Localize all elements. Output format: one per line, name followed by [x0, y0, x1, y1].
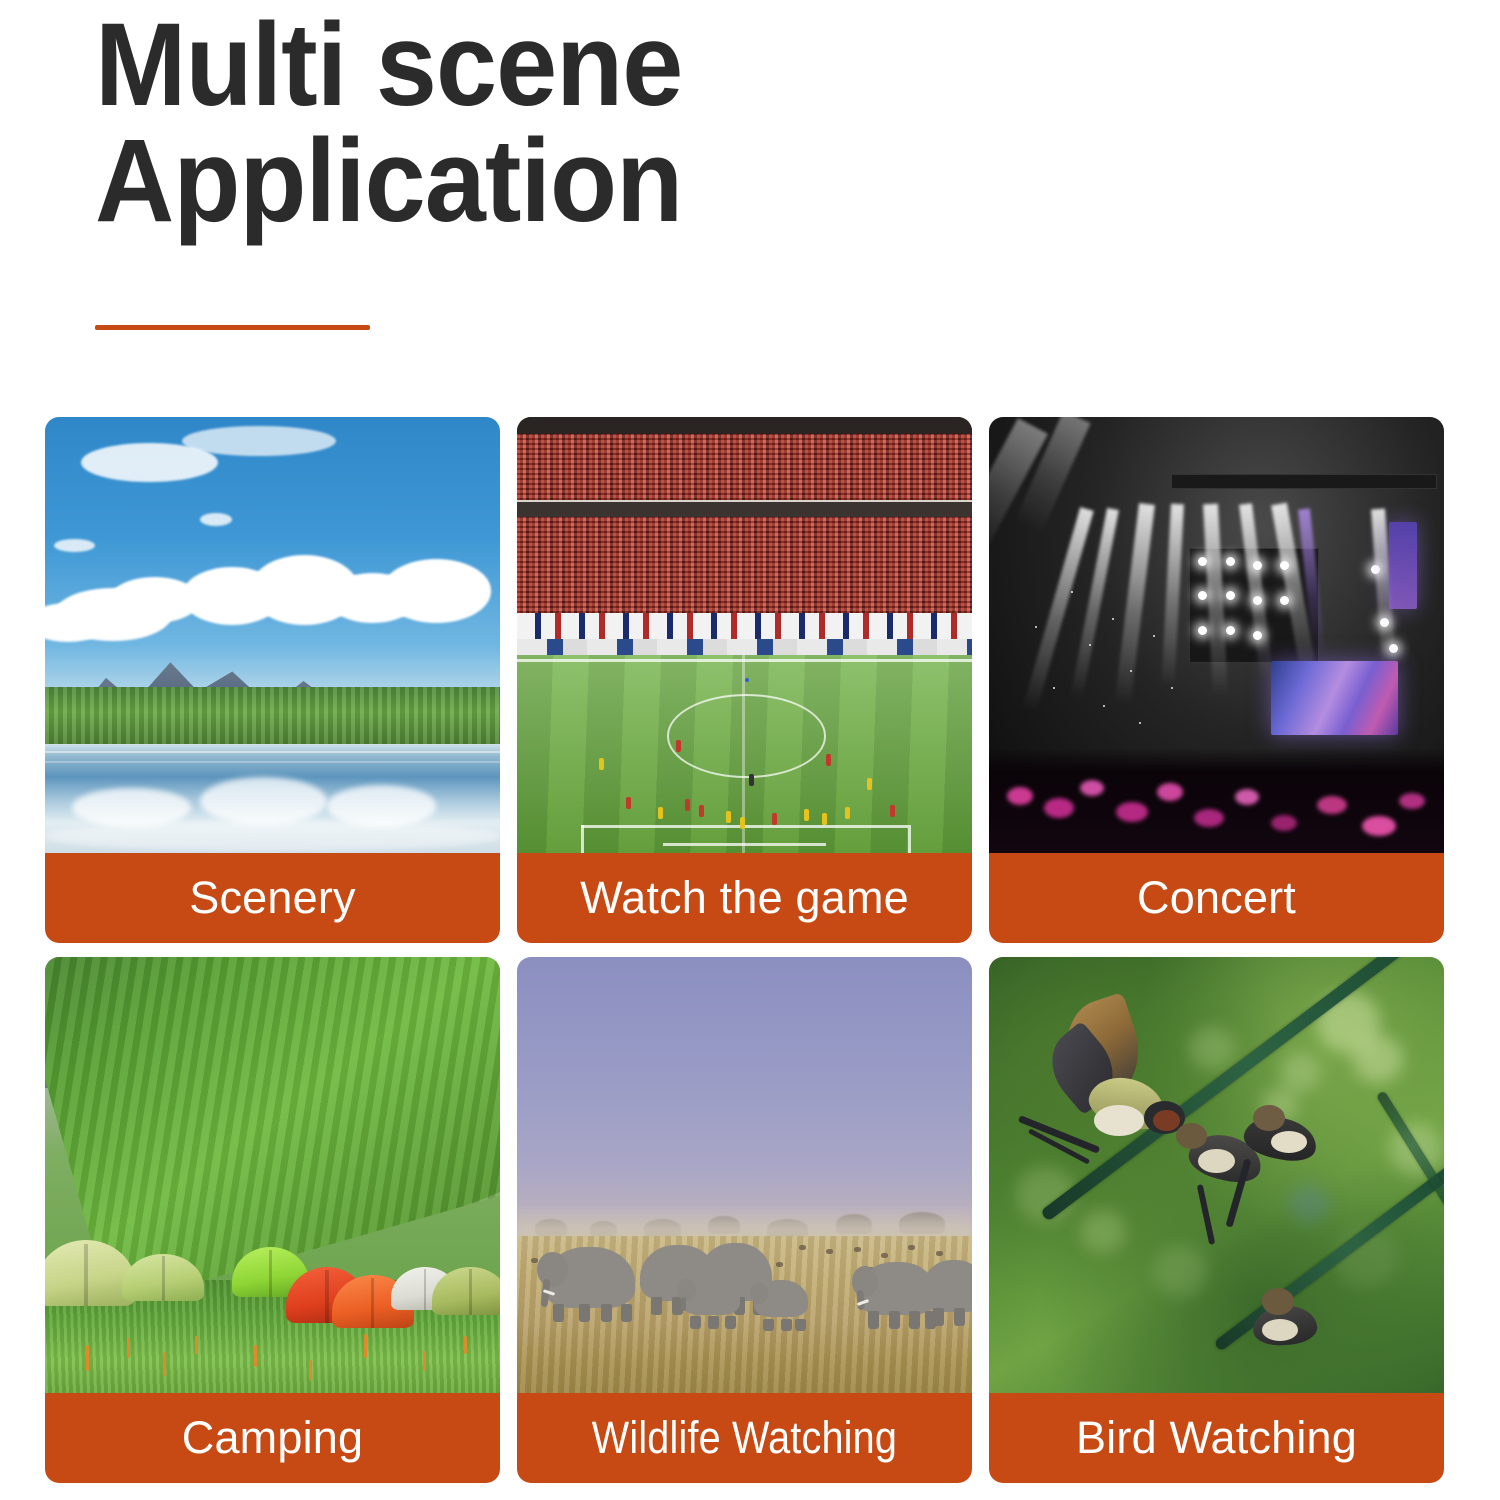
caption-label: Wildlife Watching: [592, 1412, 897, 1464]
caption-label: Scenery: [189, 872, 355, 924]
elephant-herd-photo: [517, 957, 972, 1393]
concert-stage-photo: [989, 417, 1444, 853]
caption-bar-concert: Concert: [989, 853, 1444, 943]
caption-bar-camping: Camping: [45, 1393, 500, 1483]
caption-label: Concert: [1137, 872, 1296, 924]
caption-label: Watch the game: [580, 872, 909, 924]
caption-bar-bird-watching: Bird Watching: [989, 1393, 1444, 1483]
caption-bar-scenery: Scenery: [45, 853, 500, 943]
caption-label: Camping: [182, 1412, 364, 1464]
swallows-photo: [989, 957, 1444, 1393]
mountain-lake-photo: [45, 417, 500, 853]
scene-card-camping[interactable]: Camping: [45, 957, 500, 1483]
scene-card-concert[interactable]: Concert: [989, 417, 1444, 943]
camping-tents-photo: [45, 957, 500, 1393]
title-underline-divider: [95, 325, 370, 330]
football-stadium-photo: [517, 417, 972, 853]
scene-card-wildlife-watching[interactable]: Wildlife Watching: [517, 957, 972, 1483]
scene-card-watch-the-game[interactable]: Watch the game: [517, 417, 972, 943]
scene-card-scenery[interactable]: Scenery: [45, 417, 500, 943]
page-title: Multi scene Application: [95, 8, 1304, 239]
caption-label: Bird Watching: [1076, 1412, 1357, 1464]
caption-bar-watch-the-game: Watch the game: [517, 853, 972, 943]
scene-card-bird-watching[interactable]: Bird Watching: [989, 957, 1444, 1483]
scene-card-grid: Scenery: [45, 417, 1440, 1483]
caption-bar-wildlife-watching: Wildlife Watching: [517, 1393, 972, 1483]
page-header: Multi scene Application: [95, 8, 1395, 239]
